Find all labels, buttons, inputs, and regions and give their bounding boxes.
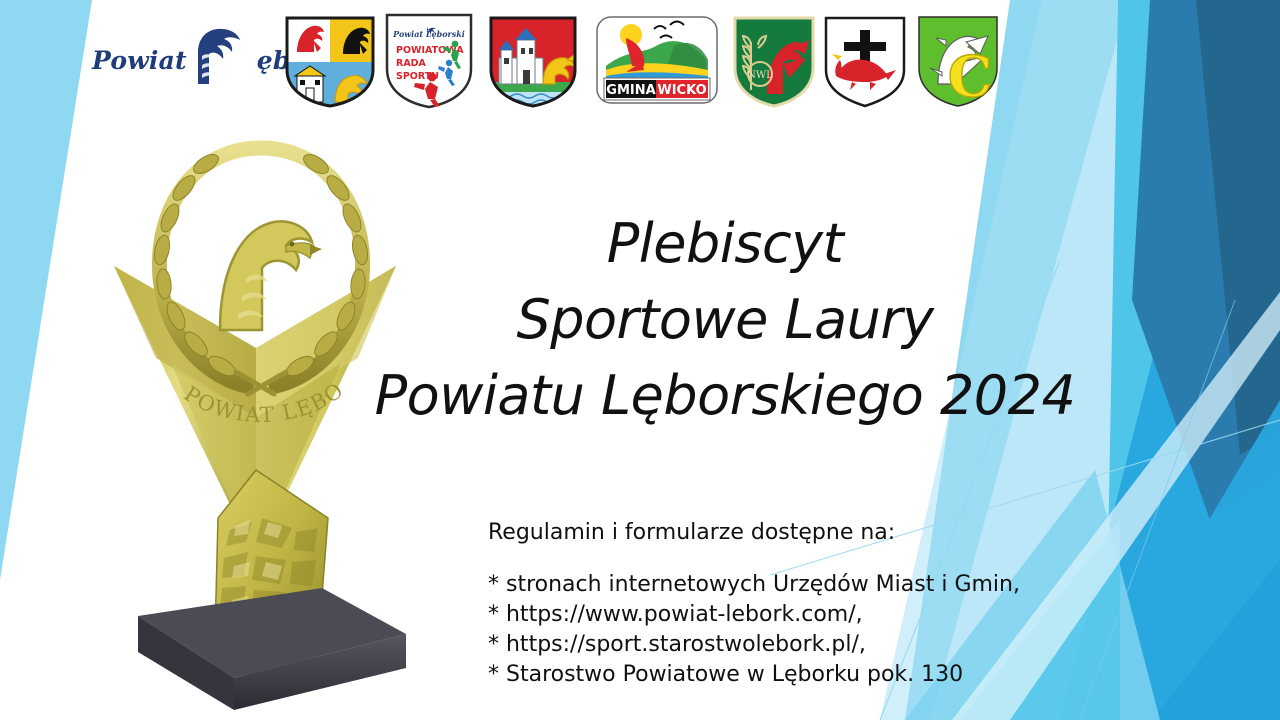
wordmark-word-powiat: Powiat (92, 46, 187, 75)
cewice-monogram: C (948, 44, 993, 110)
herb-powiatu-leborskiego (283, 14, 377, 110)
gmina-krzyz-logo (822, 14, 908, 110)
griffin-head (220, 221, 322, 330)
gmina-wicko-logo: GMINA WICKO (596, 16, 718, 104)
body-item-2: * https://www.powiat-lebork.com/, (488, 600, 1108, 630)
body-item-4: * Starostwo Powiatowe w Lęborku pok. 130 (488, 660, 1108, 690)
partner-logo-strip: Powiatęborski (0, 0, 1280, 120)
presentation-slide: Powiatęborski (0, 0, 1280, 720)
wicko-label-left: GMINA (606, 83, 655, 98)
powiat-wordmark-text: Powiatęborski (92, 46, 292, 75)
title-line-3: Powiatu Lęborskiego 2024 (330, 358, 1120, 434)
body-lead: Regulamin i formularze dostępne na: (488, 516, 1108, 550)
slide-title: Plebiscyt Sportowe Laury Powiatu Lęborsk… (330, 206, 1120, 434)
gmina-cewice-logo: C (916, 14, 1000, 110)
body-spacer (488, 550, 1108, 570)
body-item-1: * stronach internetowych Urzędów Miast i… (488, 570, 1108, 600)
powiatowa-rada-sportu-logo: Powiat Lęborski POWIATOWA RADA SPORTU (383, 11, 475, 111)
body-item-3: * https://sport.starostwolebork.pl/, (488, 630, 1108, 660)
herb-miasta-leborka (487, 14, 579, 110)
slide-body: Regulamin i formularze dostępne na: * st… (488, 516, 1108, 690)
title-line-2: Sportowe Laury (330, 282, 1120, 358)
rada-line-2: RADA (396, 58, 427, 69)
rada-mini-wordmark: Powiat Lęborski (392, 29, 465, 39)
wicko-label-right: WICKO (657, 83, 706, 98)
title-line-1: Plebiscyt (330, 206, 1120, 282)
gmina-nowa-wies-leborska-logo: NWL (731, 14, 817, 110)
nwl-monogram: NWL (747, 70, 773, 81)
powiat-leborski-wordmark: Powiatęborski (92, 28, 292, 92)
